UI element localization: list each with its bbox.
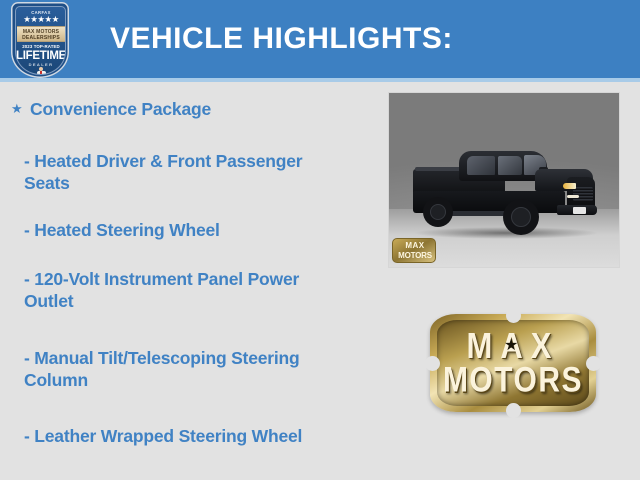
highlight-sub-item-4: - Manual Tilt/Telescoping Steering Colum…	[24, 347, 344, 391]
truck-front-rim	[511, 207, 531, 227]
truck-rear-rim	[430, 204, 446, 220]
logo-text-motors: MOTORS	[430, 361, 596, 401]
photo-dealer-watermark: MAX MOTORS	[392, 238, 436, 263]
badge-dealer-name-line2: DEALERSHIPS	[17, 35, 66, 41]
badge-top-rated-text: 2023 TOP-RATED	[16, 44, 66, 49]
page-title: VEHICLE HIGHLIGHTS:	[110, 22, 453, 56]
badge-dealer-name-line1: MAX MOTORS	[17, 29, 66, 35]
header-underline-divider	[0, 78, 640, 82]
watermark-line2: MOTORS	[393, 251, 436, 260]
highlight-main-item: Convenience Package	[30, 98, 211, 120]
figure-necktie	[40, 71, 42, 75]
truck-daytime-running-light	[567, 195, 579, 198]
truck-rear-window	[467, 156, 495, 175]
highlight-sub-item-5: - Leather Wrapped Steering Wheel	[24, 425, 344, 447]
highlight-sub-item-2: - Heated Steering Wheel	[24, 219, 344, 241]
pickup-truck-illustration	[407, 143, 603, 243]
truck-license-plate	[573, 207, 586, 214]
watermark-line1: MAX	[393, 241, 436, 250]
buckle-notch-bottom	[506, 403, 521, 418]
truck-headlight	[563, 183, 576, 189]
logo-star-icon: ★	[504, 338, 518, 354]
badge-lifetime-text: LIFETIME	[16, 50, 66, 62]
truck-ground-shadow	[413, 227, 599, 239]
bullet-star-icon: ★	[11, 99, 23, 118]
max-motors-dealer-logo[interactable]: MAX ★ MOTORS	[430, 314, 596, 412]
highlight-sub-item-3: - 120-Volt Instrument Panel Power Outlet	[24, 268, 344, 312]
truck-grille	[573, 187, 593, 201]
badge-salesperson-figure-icon	[35, 67, 48, 75]
badge-inner-panel: CARFAX ★★★★★ MAX MOTORS DEALERSHIPS 2023…	[15, 6, 66, 75]
vehicle-photo-image: MAX MOTORS	[389, 93, 619, 267]
figure-head	[39, 67, 43, 71]
truck-rear-door-window	[498, 156, 522, 175]
highlight-sub-item-1: - Heated Driver & Front Passenger Seats	[24, 150, 344, 194]
carfax-lifetime-dealer-badge: CARFAX ★★★★★ MAX MOTORS DEALERSHIPS 2023…	[11, 2, 69, 78]
badge-stars-icon: ★★★★★	[16, 15, 66, 24]
vehicle-photo-frame[interactable]: MAX MOTORS	[388, 92, 620, 268]
badge-ribbon: MAX MOTORS DEALERSHIPS	[17, 26, 66, 42]
buckle-notch-top	[506, 308, 521, 323]
